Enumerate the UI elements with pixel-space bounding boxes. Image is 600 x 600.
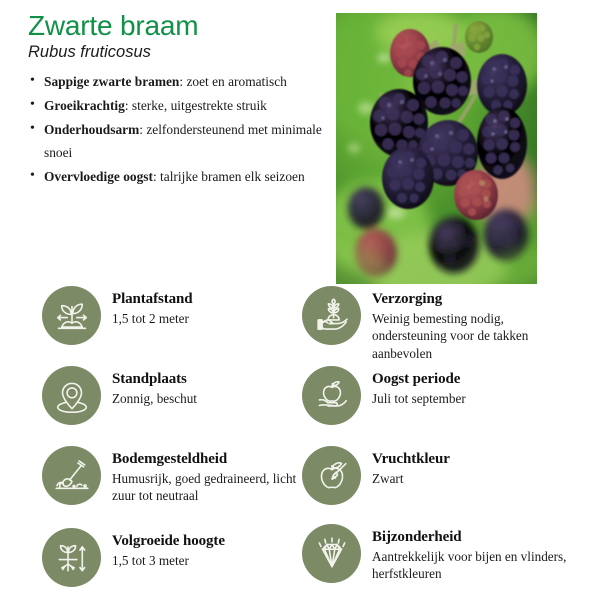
info-item-bijzonderheid: Bijzonderheid Aantrekkelijk voor bijen e… (302, 524, 572, 583)
info-item-standplaats: Standplaats Zonnig, beschut (42, 366, 312, 425)
info-desc: Zwart (372, 470, 450, 488)
info-grid: Plantafstand 1,5 tot 2 meter Standplaats… (0, 286, 600, 600)
blackberry-photo (336, 13, 537, 284)
info-text: Bijzonderheid Aantrekkelijk voor bijen e… (361, 524, 572, 583)
info-item-vruchtkleur: Vruchtkleur Zwart (302, 446, 572, 505)
info-text: Oogst periode Juli tot september (361, 366, 466, 407)
info-title: Volgroeide hoogte (112, 532, 225, 551)
info-desc: Weinig bemesting nodig, ondersteuning vo… (372, 310, 572, 363)
info-title: Verzorging (372, 290, 572, 309)
page-title: Zwarte braam (28, 10, 328, 42)
feature-rest: : talrijke bramen elk seizoen (153, 169, 305, 184)
plant-height-icon (42, 528, 101, 587)
info-item-plantafstand: Plantafstand 1,5 tot 2 meter (42, 286, 312, 345)
feature-rest: : sterke, uitgestrekte struik (125, 98, 267, 113)
feature-lead: Overvloedige oogst (44, 169, 153, 184)
hand-plant-care-icon (302, 286, 361, 345)
apple-paintbrush-icon (302, 446, 361, 505)
intro-block: Zwarte braam Rubus fruticosus Sappige zw… (28, 10, 328, 189)
feature-lead: Sappige zwarte bramen (44, 74, 179, 89)
info-item-volgroeide-hoogte: Volgroeide hoogte 1,5 tot 3 meter (42, 528, 312, 587)
location-pin-icon (42, 366, 101, 425)
diamond-sparkle-icon (302, 524, 361, 583)
info-desc: 1,5 tot 2 meter (112, 310, 192, 328)
info-text: Bodemgesteldheid Humusrijk, goed gedrain… (101, 446, 312, 505)
info-title: Oogst periode (372, 370, 466, 389)
info-text: Volgroeide hoogte 1,5 tot 3 meter (101, 528, 225, 569)
info-item-verzorging: Verzorging Weinig bemesting nodig, onder… (302, 286, 572, 362)
info-desc: Zonnig, beschut (112, 390, 197, 408)
header-section: Zwarte braam Rubus fruticosus Sappige zw… (0, 0, 600, 288)
feature-list: Sappige zwarte bramen: zoet en aromatisc… (28, 70, 328, 188)
info-desc: 1,5 tot 3 meter (112, 552, 225, 570)
info-item-oogst-periode: Oogst periode Juli tot september (302, 366, 572, 425)
info-text: Vruchtkleur Zwart (361, 446, 450, 487)
info-text: Standplaats Zonnig, beschut (101, 366, 197, 407)
info-title: Standplaats (112, 370, 197, 389)
info-desc: Aantrekkelijk voor bijen en vlinders, he… (372, 548, 572, 583)
list-item: Groeikrachtig: sterke, uitgestrekte stru… (28, 94, 328, 117)
feature-rest: : zoet en aromatisch (179, 74, 286, 89)
list-item: Overvloedige oogst: talrijke bramen elk … (28, 165, 328, 188)
info-text: Plantafstand 1,5 tot 2 meter (101, 286, 192, 327)
info-title: Bijzonderheid (372, 528, 572, 547)
shovel-soil-icon (42, 446, 101, 505)
list-item: Sappige zwarte bramen: zoet en aromatisc… (28, 70, 328, 93)
feature-lead: Groeikrachtig (44, 98, 125, 113)
info-title: Plantafstand (112, 290, 192, 309)
info-text: Verzorging Weinig bemesting nodig, onder… (361, 286, 572, 362)
plant-spacing-icon (42, 286, 101, 345)
latin-name: Rubus fruticosus (28, 43, 328, 63)
list-item: Onderhoudsarm: zelfondersteunend met min… (28, 118, 328, 164)
info-title: Bodemgesteldheid (112, 450, 312, 469)
info-desc: Humusrijk, goed gedraineerd, licht zuur … (112, 470, 312, 505)
info-item-bodemgesteldheid: Bodemgesteldheid Humusrijk, goed gedrain… (42, 446, 312, 505)
info-desc: Juli tot september (372, 390, 466, 408)
info-title: Vruchtkleur (372, 450, 450, 469)
hand-apple-harvest-icon (302, 366, 361, 425)
feature-lead: Onderhoudsarm (44, 122, 139, 137)
